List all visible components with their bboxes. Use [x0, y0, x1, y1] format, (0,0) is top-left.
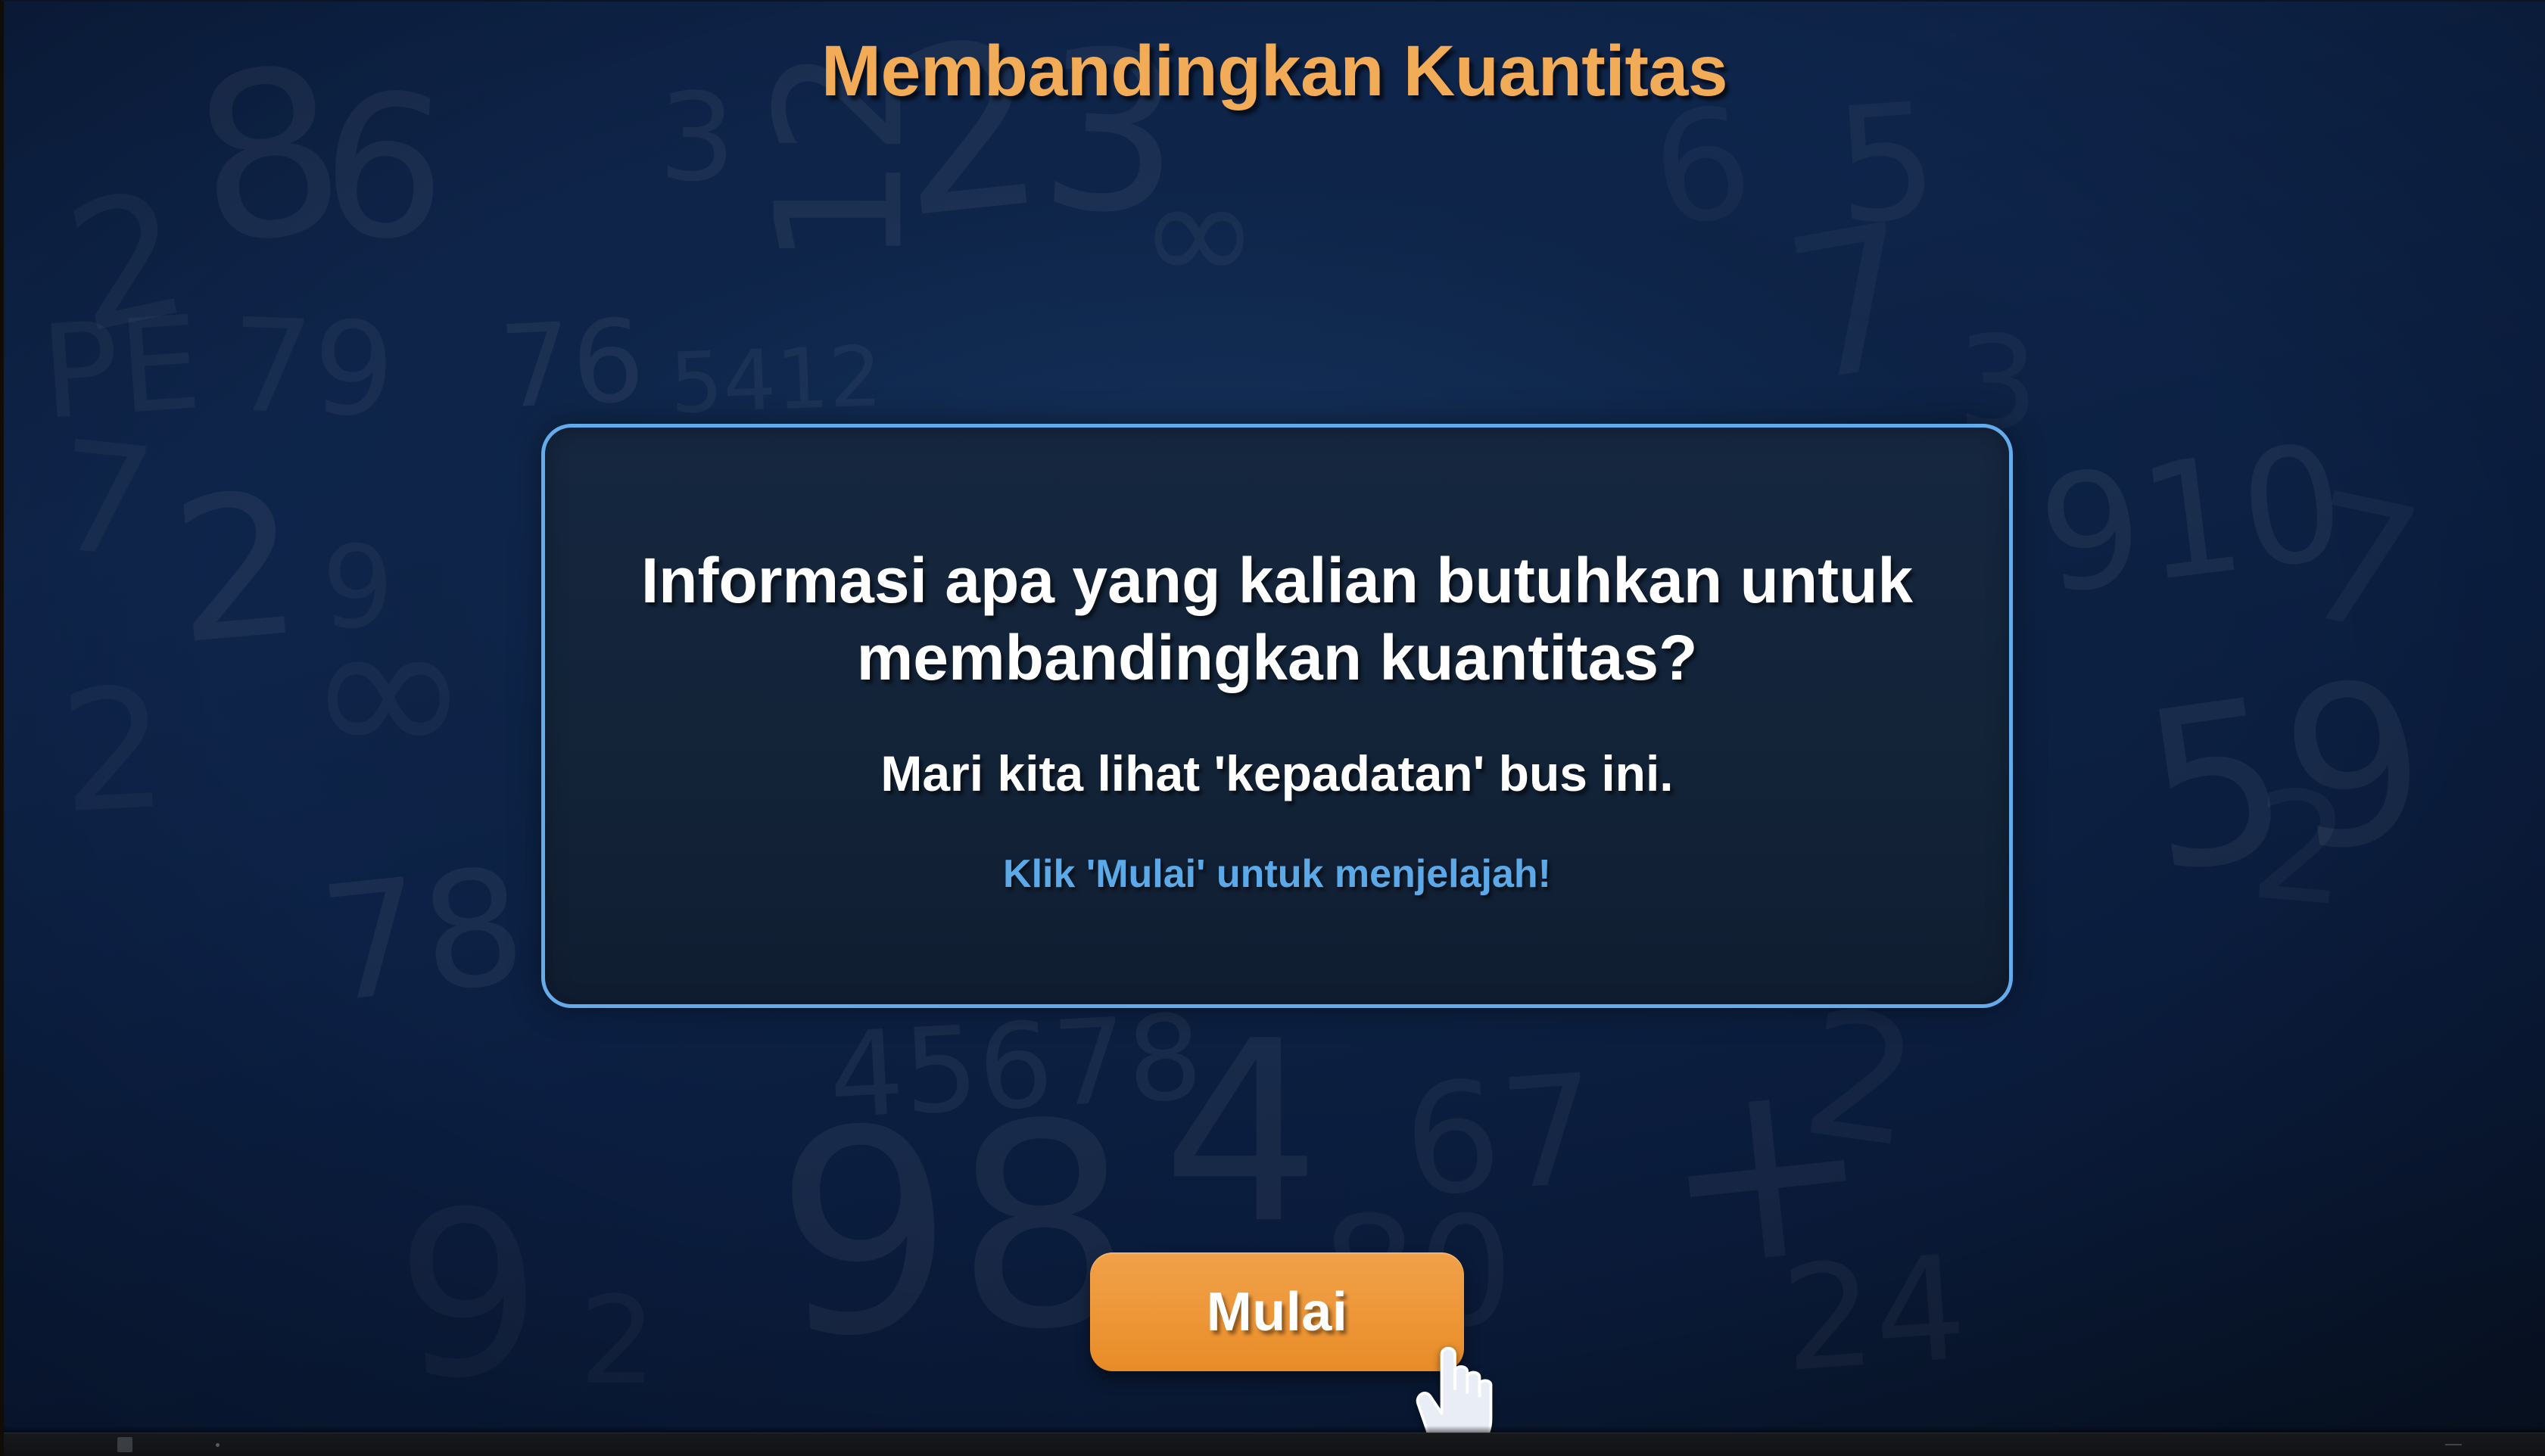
start-button[interactable]: Mulai: [1090, 1252, 1464, 1371]
card-subtitle-text: Mari kita lihat 'kepadatan' bus ini.: [626, 744, 1928, 804]
taskbar-right-handle: [2445, 1444, 2462, 1445]
taskbar[interactable]: [4, 1433, 2545, 1456]
taskbar-item[interactable]: [117, 1437, 132, 1452]
page-title: Membandingkan Kuantitas: [4, 30, 2545, 113]
info-card: Informasi apa yang kalian butuhkan untuk…: [541, 424, 2013, 1008]
card-question-text: Informasi apa yang kalian butuhkan untuk…: [626, 542, 1928, 697]
card-hint-text: Klik 'Mulai' untuk menjelajah!: [626, 851, 1928, 898]
taskbar-indicator-dot: [216, 1443, 220, 1447]
presentation-window: 86212323∞57PE797654127299107∞25997824567…: [0, 0, 2545, 1456]
